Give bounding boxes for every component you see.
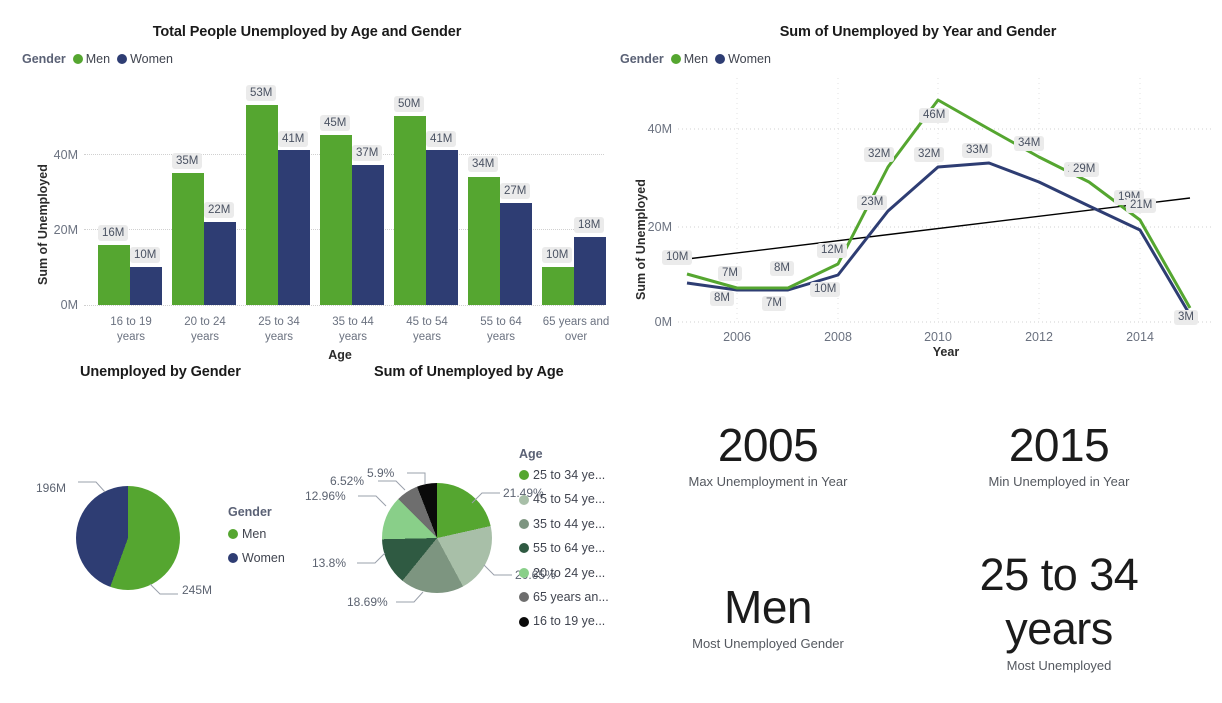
legend-swatch-women (228, 553, 238, 563)
bar-men-45-54[interactable] (394, 116, 426, 305)
legend-swatch-55-64 (519, 543, 529, 553)
bar-label-women-65-over: 18M (574, 217, 604, 233)
kpi-card-most-unemployed-gender[interactable]: Men Most Unemployed Gender (640, 580, 896, 651)
age-pie-label-55-64: 13.8% (312, 556, 346, 570)
legend-item-men[interactable]: Men (73, 52, 110, 66)
kpi-caption: Max Unemployment in Year (640, 474, 896, 489)
legend-label-men: Men (86, 52, 110, 66)
bar-chart-title: Total People Unemployed by Age and Gende… (0, 24, 614, 40)
bar-y-tick-0m: 0M (44, 298, 78, 312)
line-x-axis-title: Year (678, 345, 1214, 359)
kpi-caption: Most Unemployed (961, 658, 1157, 673)
kpi-card-max-unemployment-year[interactable]: 2005 Max Unemployment in Year (640, 418, 896, 489)
bar-label-women-25-34: 41M (278, 131, 308, 147)
bar-men-65-over[interactable] (542, 267, 574, 305)
gender-pie-label-men: 245M (182, 583, 212, 597)
bar-men-20-24[interactable] (172, 173, 204, 305)
line-label-men-2012: 34M (1014, 136, 1044, 151)
bar-cat-55-64: 55 to 64 years (468, 315, 534, 345)
bar-chart-legend: Gender Men Women (22, 52, 173, 66)
bar-label-men-20-24: 35M (172, 153, 202, 169)
age-pie-label-20-24: 12.96% (305, 489, 346, 503)
age-pie-label-16-19: 5.9% (367, 466, 394, 480)
bar-y-tick-20m: 20M (44, 223, 78, 237)
legend-item-65-over[interactable]: 65 years an... (519, 585, 609, 609)
legend-title: Gender (22, 52, 66, 66)
line-label-men-2006: 7M (718, 266, 742, 281)
line-label-men-2014: 21M (1126, 198, 1156, 213)
legend-label-65-over: 65 years an... (533, 585, 609, 609)
line-label-men-2009: 32M (864, 147, 894, 162)
legend-swatch-20-24 (519, 568, 529, 578)
legend-label-45-54: 45 to 54 ye... (533, 487, 605, 511)
legend-swatch-65-over (519, 592, 529, 602)
line-label-men-2008: 12M (817, 243, 847, 258)
legend-item-16-19[interactable]: 16 to 19 ye... (519, 609, 609, 633)
legend-item-45-54[interactable]: 45 to 54 ye... (519, 487, 609, 511)
bar-cat-45-54: 45 to 54 years (394, 315, 460, 345)
dashboard-root: Total People Unemployed by Age and Gende… (0, 0, 1222, 703)
legend-swatch-16-19 (519, 617, 529, 627)
legend-item-55-64[interactable]: 55 to 64 ye... (519, 536, 609, 560)
bar-label-women-45-54: 41M (426, 131, 456, 147)
line-x-tick-2010: 2010 (913, 330, 963, 344)
bar-men-16-19[interactable] (98, 245, 130, 305)
legend-swatch-women (117, 54, 127, 64)
line-x-tick-2008: 2008 (813, 330, 863, 344)
age-pie-panel: Sum of Unemployed by Age 21.49% 20.65% 1… (310, 360, 630, 703)
legend-swatch-men (73, 54, 83, 64)
legend-item-20-24[interactable]: 20 to 24 ye... (519, 561, 609, 585)
line-label-men-2010: 46M (919, 108, 949, 123)
bar-label-women-55-64: 27M (500, 183, 530, 199)
legend-swatch-men (228, 529, 238, 539)
line-label-men-2013: 29M (1069, 162, 1099, 177)
legend-title: Gender (228, 505, 285, 519)
legend-item-women[interactable]: Women (117, 52, 173, 66)
legend-label-men: Men (242, 522, 266, 546)
trend-line (687, 198, 1190, 259)
legend-swatch-35-44 (519, 519, 529, 529)
line-x-tick-2012: 2012 (1014, 330, 1064, 344)
bar-cat-25-34: 25 to 34 years (246, 315, 312, 345)
kpi-card-min-unemployed-year[interactable]: 2015 Min Unemployed in Year (931, 418, 1187, 489)
bar-label-men-16-19: 16M (98, 225, 128, 241)
bar-men-25-34[interactable] (246, 105, 278, 305)
bar-women-65-over[interactable] (574, 237, 606, 305)
line-label-women-2009: 23M (857, 195, 887, 210)
kpi-value: 25 to 34 years (961, 548, 1157, 656)
bar-label-men-65-over: 10M (542, 247, 572, 263)
bar-gridline-0m (84, 305, 604, 306)
line-series-women[interactable] (687, 163, 1190, 315)
age-pie-label-65-over: 6.52% (330, 474, 364, 488)
line-label-men-2007: 8M (770, 261, 794, 276)
bar-label-women-35-44: 37M (352, 145, 382, 161)
bar-women-35-44[interactable] (352, 165, 384, 305)
legend-label-women: Women (242, 546, 285, 570)
kpi-caption: Most Unemployed Gender (640, 636, 896, 651)
gender-pie-panel: Unemployed by Gender 196M 245M Gender Me… (0, 360, 310, 703)
kpi-card-most-unemployed-age[interactable]: 25 to 34 years Most Unemployed (961, 548, 1157, 673)
bar-label-women-16-19: 10M (130, 247, 160, 263)
line-label-women-2010: 32M (914, 147, 944, 162)
legend-item-women[interactable]: Women (228, 546, 285, 570)
bar-women-16-19[interactable] (130, 267, 162, 305)
bar-label-men-25-34: 53M (246, 85, 276, 101)
line-label-women-2011: 33M (962, 143, 992, 158)
bar-cat-16-19: 16 to 19 years (98, 315, 164, 345)
legend-swatch-45-54 (519, 495, 529, 505)
kpi-caption: Min Unemployed in Year (931, 474, 1187, 489)
line-label-2015: 3M (1174, 310, 1198, 325)
bar-y-tick-40m: 40M (44, 148, 78, 162)
legend-label-women: Women (130, 52, 173, 66)
line-label-men-2005: 10M (662, 250, 692, 265)
legend-item-35-44[interactable]: 35 to 44 ye... (519, 512, 609, 536)
bar-label-women-20-24: 22M (204, 202, 234, 218)
bar-women-20-24[interactable] (204, 222, 236, 305)
bar-men-55-64[interactable] (468, 177, 500, 305)
legend-item-25-34[interactable]: 25 to 34 ye... (519, 463, 609, 487)
line-label-women-2005: 8M (710, 291, 734, 306)
legend-label-35-44: 35 to 44 ye... (533, 512, 605, 536)
bar-chart-panel: Total People Unemployed by Age and Gende… (0, 0, 614, 365)
kpi-value: 2015 (931, 418, 1187, 472)
line-label-women-2008: 10M (810, 282, 840, 297)
line-x-tick-2014: 2014 (1115, 330, 1165, 344)
kpi-value: 2005 (640, 418, 896, 472)
line-x-tick-2006: 2006 (712, 330, 762, 344)
bar-cat-35-44: 35 to 44 years (320, 315, 386, 345)
bar-men-35-44[interactable] (320, 135, 352, 305)
bar-cat-65-over: 65 years and over (538, 315, 614, 345)
bar-cat-20-24: 20 to 24 years (172, 315, 238, 345)
legend-label-20-24: 20 to 24 ye... (533, 561, 605, 585)
bar-women-45-54[interactable] (426, 150, 458, 305)
legend-item-men[interactable]: Men (228, 522, 285, 546)
legend-label-55-64: 55 to 64 ye... (533, 536, 605, 560)
gender-pie-legend: Gender Men Women (228, 505, 285, 570)
bar-women-25-34[interactable] (278, 150, 310, 305)
bar-label-men-45-54: 50M (394, 96, 424, 112)
line-chart-panel: Sum of Unemployed by Year and Gender Gen… (614, 0, 1222, 365)
legend-label-25-34: 25 to 34 ye... (533, 463, 605, 487)
legend-title: Age (519, 447, 609, 461)
line-label-women-2007: 7M (762, 296, 786, 311)
age-pie-legend: Age 25 to 34 ye... 45 to 54 ye... 35 to … (519, 447, 609, 634)
bar-label-men-35-44: 45M (320, 115, 350, 131)
age-pie-label-35-44: 18.69% (347, 595, 388, 609)
bar-women-55-64[interactable] (500, 203, 532, 305)
line-plot-svg (614, 0, 1222, 365)
gender-pie-label-women: 196M (36, 481, 66, 495)
kpi-value: Men (640, 580, 896, 634)
legend-label-16-19: 16 to 19 ye... (533, 609, 605, 633)
bar-label-men-55-64: 34M (468, 156, 498, 172)
legend-swatch-25-34 (519, 470, 529, 480)
